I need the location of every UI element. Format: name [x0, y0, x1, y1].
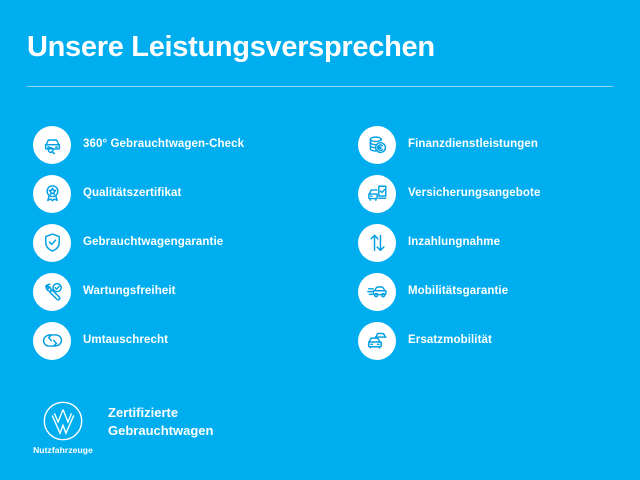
wrench-check-icon: [33, 273, 71, 311]
feature-label: 360° Gebrauchtwagen-Check: [83, 138, 244, 152]
feature-label: Ersatzmobilität: [408, 334, 492, 348]
footer-headline-line2: Gebrauchtwagen: [108, 422, 213, 440]
feature-label: Mobilitätsgarantie: [408, 285, 508, 299]
car-inspection-icon: [33, 126, 71, 164]
car-document-check-icon: [358, 175, 396, 213]
feature-label: Inzahlungnahme: [408, 236, 500, 250]
feature-item-qualitaetszertifikat[interactable]: Qualitätszertifikat: [33, 169, 323, 218]
service-promises-poster: Unsere Leistungsversprechen 360° Gebrauc…: [0, 0, 640, 480]
vw-roundel-icon: [42, 400, 84, 442]
feature-label: Umtauschrecht: [83, 334, 168, 348]
feature-column-right: Finanzdienstleistungen Versicherungsange…: [358, 120, 640, 365]
footer-brand-block: Nutzfahrzeuge Zertifizierte Gebrauchtwag…: [30, 400, 213, 455]
vw-logo-block: Nutzfahrzeuge: [30, 400, 96, 455]
feature-item-mobilitaetsgarantie[interactable]: Mobilitätsgarantie: [358, 267, 640, 316]
footer-headline: Zertifizierte Gebrauchtwagen: [108, 404, 213, 439]
footer-headline-line1: Zertifizierte: [108, 404, 213, 422]
car-motion-icon: [358, 273, 396, 311]
feature-column-left: 360° Gebrauchtwagen-Check Qualitätszerti…: [33, 120, 323, 365]
up-down-arrows-icon: [358, 224, 396, 262]
quality-seal-icon: [33, 175, 71, 213]
feature-item-gebrauchtwagengarantie[interactable]: Gebrauchtwagengarantie: [33, 218, 323, 267]
feature-label: Wartungsfreiheit: [83, 285, 176, 299]
feature-item-inzahlungnahme[interactable]: Inzahlungnahme: [358, 218, 640, 267]
page-title: Unsere Leistungsversprechen: [27, 32, 435, 64]
feature-label: Versicherungsangebote: [408, 187, 540, 201]
two-cars-icon: [358, 322, 396, 360]
feature-label: Gebrauchtwagengarantie: [83, 236, 223, 250]
feature-item-finanzdienstleistungen[interactable]: Finanzdienstleistungen: [358, 120, 640, 169]
feature-item-versicherungsangebote[interactable]: Versicherungsangebote: [358, 169, 640, 218]
coins-euro-icon: [358, 126, 396, 164]
shield-check-icon: [33, 224, 71, 262]
feature-label: Qualitätszertifikat: [83, 187, 181, 201]
title-divider: [27, 86, 613, 87]
vw-logo-subtitle: Nutzfahrzeuge: [33, 445, 93, 455]
feature-item-umtauschrecht[interactable]: Umtauschrecht: [33, 316, 323, 365]
feature-item-wartungsfreiheit[interactable]: Wartungsfreiheit: [33, 267, 323, 316]
feature-label: Finanzdienstleistungen: [408, 138, 538, 152]
feature-item-ersatzmobilitaet[interactable]: Ersatzmobilität: [358, 316, 640, 365]
exchange-arrows-icon: [33, 322, 71, 360]
feature-item-gebrauchtwagen-check[interactable]: 360° Gebrauchtwagen-Check: [33, 120, 323, 169]
